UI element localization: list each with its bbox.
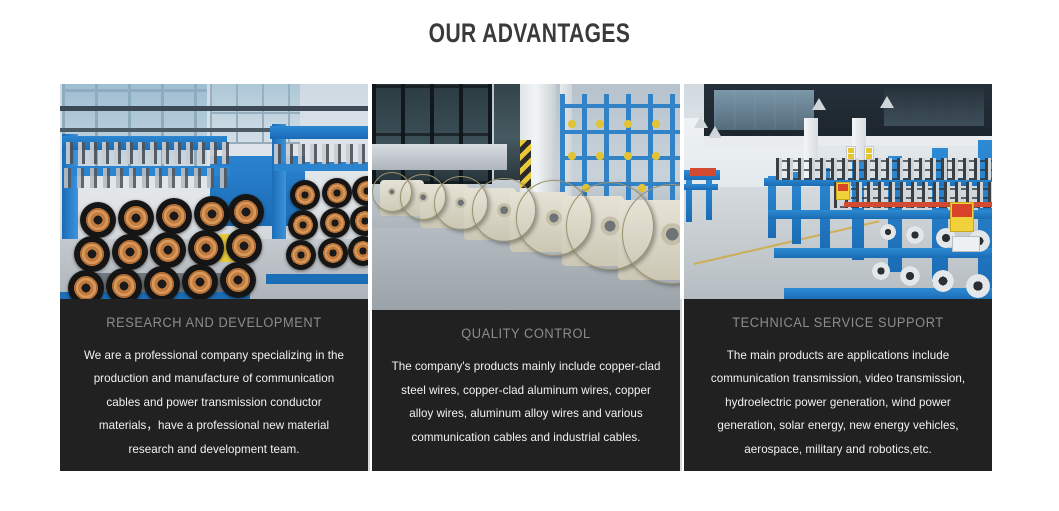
- spindle: [966, 274, 990, 298]
- mezzanine-window: [714, 90, 814, 130]
- wire-spool-racks-photo: [60, 84, 368, 299]
- safety-placard-icon: [846, 146, 856, 160]
- copper-wire-spool: [350, 206, 368, 236]
- card-description: We are a professional company specializi…: [72, 344, 356, 462]
- rack-base: [266, 274, 368, 284]
- copper-wire-spool: [106, 268, 142, 299]
- card-body: TECHNICAL SERVICE SUPPORT The main produ…: [684, 299, 992, 472]
- copper-wire-spool: [318, 238, 348, 268]
- wall-rail: [372, 144, 507, 170]
- spindle: [872, 262, 890, 280]
- wire-guide-header: [274, 144, 366, 164]
- spindle: [880, 224, 896, 240]
- copper-wire-spool: [182, 264, 218, 299]
- copper-wire-spool: [194, 196, 230, 232]
- blue-machine-frame: [270, 126, 368, 139]
- copper-wire-spool: [226, 228, 262, 264]
- drum-hub: [546, 210, 562, 226]
- copper-wire-spool: [288, 210, 318, 240]
- copper-wire-spool: [74, 236, 110, 272]
- drum-hub: [661, 223, 680, 245]
- copper-wire-spool: [150, 232, 186, 268]
- warning-sign-band: [952, 204, 972, 217]
- card-description: The company's products mainly include co…: [384, 355, 668, 449]
- drum-hub: [388, 188, 396, 196]
- drum-hub: [455, 197, 466, 208]
- warning-sign: [836, 182, 850, 200]
- card-body: RESEARCH AND DEVELOPMENT We are a profes…: [60, 299, 368, 472]
- card-heading: RESEARCH AND DEVELOPMENT: [79, 315, 349, 330]
- mezzanine-window: [884, 88, 984, 126]
- safety-placard-icon: [864, 146, 874, 160]
- braider-head-cluster: [776, 158, 992, 180]
- card-description: The main products are applications inclu…: [696, 344, 980, 462]
- copper-wire-spool: [352, 176, 368, 206]
- spindle: [932, 270, 954, 292]
- copper-wire-spool: [80, 202, 116, 238]
- advantage-card-technical-service-support[interactable]: TECHNICAL SERVICE SUPPORT The main produ…: [684, 84, 992, 471]
- spindle: [900, 266, 920, 286]
- copper-wire-spool: [68, 270, 104, 299]
- mezzanine-ledge: [704, 136, 992, 146]
- machine-red-trim: [690, 168, 716, 176]
- drum-hub: [601, 217, 620, 236]
- ceiling-beam: [60, 106, 368, 111]
- warning-sign-large: [950, 202, 974, 232]
- copper-wire-spool: [144, 266, 180, 299]
- braiding-machine-line-photo: [684, 84, 992, 299]
- info-placard: [952, 236, 980, 252]
- copper-wire-spool: [320, 208, 350, 238]
- copper-wire-spool: [188, 230, 224, 266]
- advantages-section: OUR ADVANTAGES: [0, 0, 1059, 511]
- copper-wire-spool: [112, 234, 148, 270]
- copper-wire-spool: [286, 240, 316, 270]
- advantage-card-research-and-development[interactable]: RESEARCH AND DEVELOPMENT We are a profes…: [60, 84, 368, 471]
- wire-guide-header: [66, 142, 230, 164]
- warning-sign-band: [838, 184, 848, 191]
- advantage-card-quality-control[interactable]: QUALITY CONTROL The company's products m…: [372, 84, 680, 471]
- page-title: OUR ADVANTAGES: [116, 16, 942, 50]
- advantage-cards-grid: RESEARCH AND DEVELOPMENT We are a profes…: [60, 84, 992, 471]
- wire-guide-header: [64, 168, 232, 188]
- copper-wire-spool: [290, 180, 320, 210]
- card-body: QUALITY CONTROL The company's products m…: [372, 310, 680, 471]
- hazard-striped-post: [520, 140, 531, 188]
- card-heading: TECHNICAL SERVICE SUPPORT: [703, 315, 973, 330]
- copper-wire-spool: [118, 200, 154, 236]
- braiding-machine: [684, 184, 718, 190]
- card-heading: QUALITY CONTROL: [391, 326, 661, 341]
- copper-wire-spool: [228, 194, 264, 230]
- braiding-machine-base-rail: [784, 288, 992, 299]
- drum-hub: [497, 203, 511, 217]
- drum-hub: [418, 192, 428, 202]
- copper-wire-spool: [322, 178, 352, 208]
- cable-drums-photo: [372, 84, 680, 310]
- spindle: [906, 226, 924, 244]
- copper-wire-spool: [156, 198, 192, 234]
- copper-wire-spool: [220, 262, 256, 298]
